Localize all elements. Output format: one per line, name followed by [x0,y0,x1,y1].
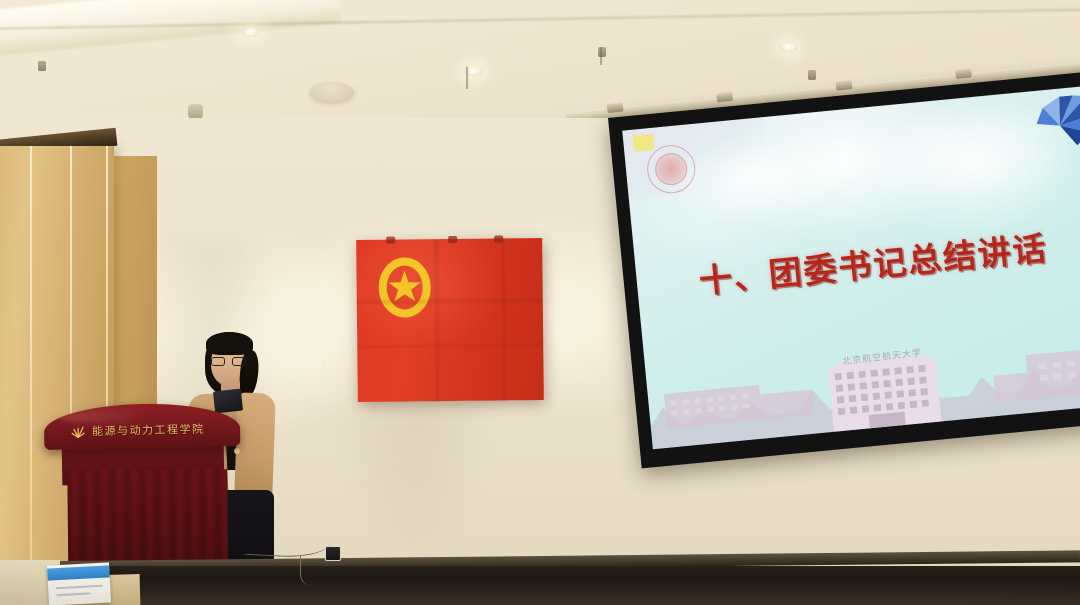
flag-tack [494,235,503,242]
flag-tack [386,237,395,244]
tent-card-text-line [57,592,91,596]
flag-tack [448,236,457,243]
podium-sign-text: 能源与动力工程学院 [92,421,205,439]
seal-inner [654,152,689,187]
tent-card-text-line [56,585,102,589]
laptop-on-podium [213,389,243,414]
track-clip [716,92,733,103]
ceiling-speaker-icon [310,82,354,102]
blue-pinwheel-icon [1032,94,1080,153]
downlight-icon [780,43,797,52]
conference-room-scene: 十、团委书记总结讲话 [0,0,1080,605]
slide-yellow-accent [633,134,654,152]
hanger-wire [600,47,602,65]
hanger-wire [466,67,468,89]
eyeglasses-icon [211,357,246,366]
youth-league-emblem-icon [378,257,431,318]
tent-card-band [47,565,110,580]
school-mark-icon [70,424,86,440]
sprinkler-head-icon [38,61,46,71]
wall-outlet-icon [325,546,341,561]
sprinkler-head-icon [808,70,816,80]
campus-skyline-graphic [645,321,1080,449]
presentation-slide: 十、团委书记总结讲话 [622,85,1080,449]
communist-youth-league-flag [356,238,544,402]
track-clip [607,103,624,114]
downlight-icon [242,28,259,37]
name-tent-card [47,562,111,605]
floor [0,566,1080,605]
screen-frame: 十、团委书记总结讲话 [608,70,1080,468]
partition-seam [30,146,32,586]
five-point-star-icon [387,270,421,304]
projection-screen: 十、团委书记总结讲话 [608,70,1080,468]
track-clip [955,68,972,79]
jacket-button [234,448,240,454]
slide-title: 十、团委书记总结讲话 [635,216,1080,309]
track-clip [836,80,853,91]
power-cable-drop [300,556,329,586]
